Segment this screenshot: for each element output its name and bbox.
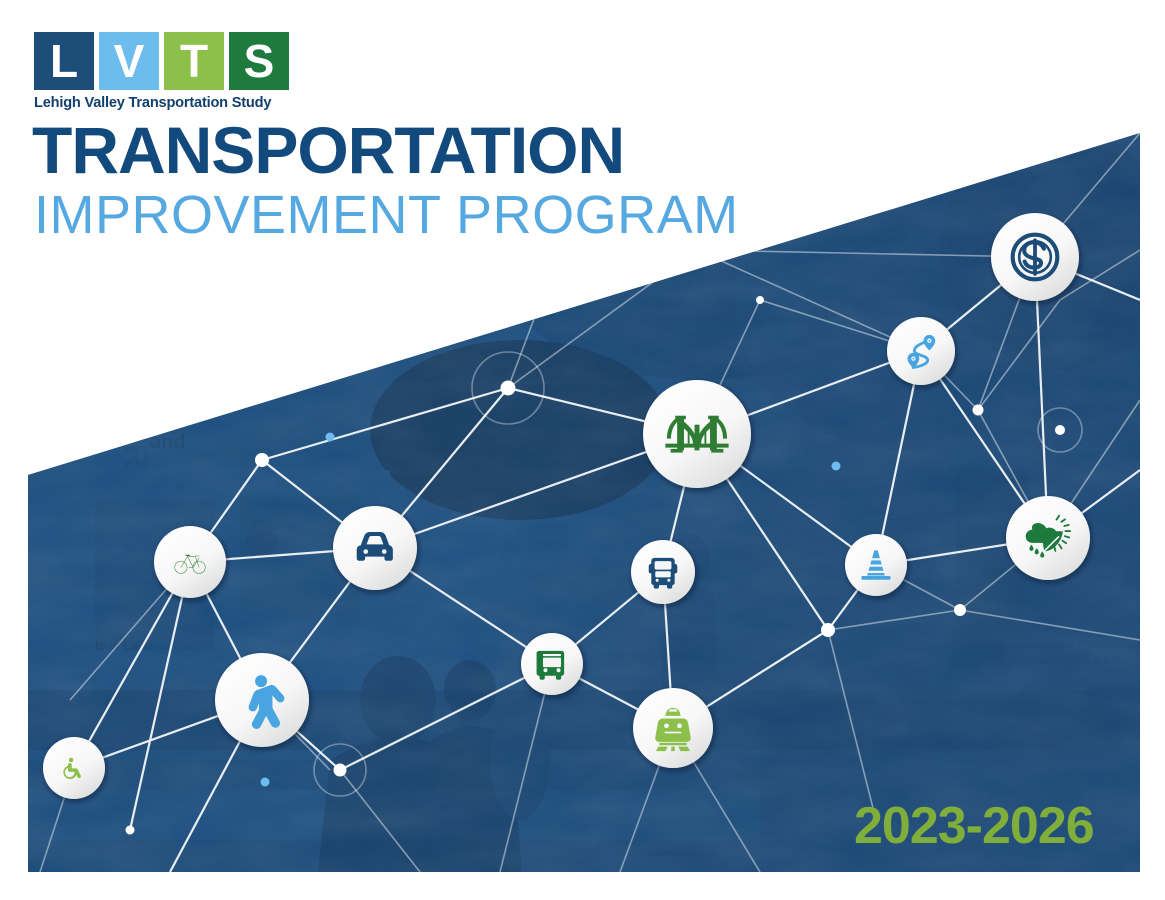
- logo-letter: T: [180, 38, 208, 84]
- bridge-icon: [643, 380, 751, 488]
- school-bus-icon: [631, 540, 695, 604]
- logo-letter: L: [50, 38, 78, 84]
- page-subtitle: IMPROVEMENT PROGRAM: [34, 188, 739, 242]
- environment-icon: [1006, 496, 1090, 580]
- page-title: TRANSPORTATION: [32, 117, 624, 183]
- logo-tile-s: S: [229, 32, 289, 90]
- car-icon: [333, 506, 417, 590]
- logo-subtitle: Lehigh Valley Transportation Study: [34, 95, 296, 111]
- logo-letter: S: [244, 38, 275, 84]
- wheelchair-icon: [43, 737, 105, 799]
- logo-letter: V: [114, 38, 145, 84]
- pedestrian-icon: [215, 653, 309, 747]
- transit-bus-icon: [521, 633, 583, 695]
- logo-tile-v: V: [99, 32, 159, 90]
- dollar-coin-icon: [991, 213, 1079, 301]
- logo-tile-t: T: [164, 32, 224, 90]
- bicycle-icon: [154, 526, 226, 598]
- lvts-logo: L V T S Lehigh Valley Transportation Stu…: [34, 32, 296, 111]
- year-range: 2023-2026: [854, 796, 1094, 856]
- logo-tiles: L V T S: [34, 32, 296, 90]
- train-icon: [633, 688, 713, 768]
- traffic-cone-icon: [845, 534, 907, 596]
- route-map-icon: [887, 317, 955, 385]
- logo-tile-l: L: [34, 32, 94, 90]
